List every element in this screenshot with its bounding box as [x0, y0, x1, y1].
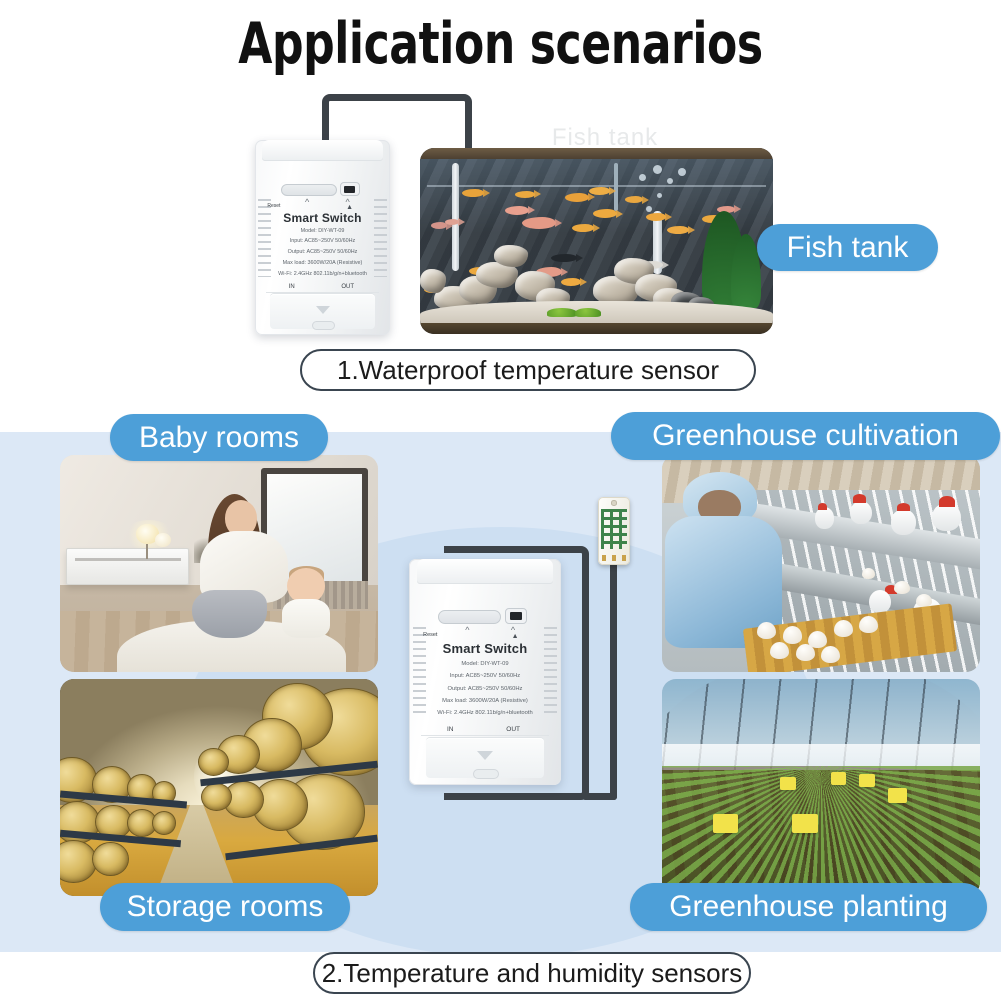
label-greenhouse-planting: Greenhouse planting	[630, 883, 987, 931]
terminal-in-label: IN	[289, 284, 295, 290]
caption-two-text: 2.Temperature and humidity sensors	[322, 960, 743, 986]
caption-waterproof-temperature-sensor: 1.Waterproof temperature sensor	[300, 349, 756, 391]
wifi-icon-bottom: ▲	[512, 633, 519, 640]
humidity-sensor-probe	[598, 497, 630, 565]
device-name-bottom: Smart Switch	[409, 641, 561, 656]
device-tab	[312, 321, 336, 330]
caption-one-text: 1.Waterproof temperature sensor	[337, 357, 719, 383]
wifi-icon: ▲	[346, 204, 353, 211]
device-max-load: Max load: 3600W/20A (Resistive)	[255, 260, 390, 266]
label-baby-rooms: Baby rooms	[110, 414, 328, 461]
storage-room-photo	[60, 679, 378, 896]
device-input: Input: AC85~250V 50/60Hz	[255, 238, 390, 244]
power-button-bottom[interactable]	[505, 608, 527, 624]
terminal-in-label-bottom: IN	[447, 726, 454, 733]
page-title: Application scenarios	[70, 8, 931, 80]
device-wifi-spec-bottom: Wi-Fi: 2.4GHz 802.11b/g/n+bluetooth	[409, 710, 561, 716]
device-name: Smart Switch	[255, 211, 390, 225]
label-greenhouse-cultivation-text: Greenhouse cultivation	[652, 421, 959, 451]
baby-room-photo	[60, 455, 378, 672]
power-button[interactable]	[340, 182, 360, 196]
device-wifi-spec: Wi-Fi: 2.4GHz 802.11b/g/n+bluetooth	[255, 271, 390, 277]
device-output-bottom: Output: AC85~250V 50/60Hz	[409, 686, 561, 692]
label-storage-rooms-text: Storage rooms	[127, 892, 324, 922]
device-model: Model: DIY-WT-09	[255, 228, 390, 234]
caption-temperature-humidity-sensors: 2.Temperature and humidity sensors	[313, 952, 751, 994]
device-output: Output: AC85~250V 50/60Hz	[255, 249, 390, 255]
greenhouse-planting-photo	[662, 679, 980, 896]
label-fish-tank: Fish tank	[757, 224, 938, 271]
humidity-sensor-cable-riser	[610, 560, 617, 800]
device-max-load-bottom: Max load: 3600W/20A (Resistive)	[409, 698, 561, 704]
device-reset-label: Reset	[206, 203, 341, 209]
direction-triangle	[316, 306, 330, 314]
device-tab-bottom	[473, 769, 499, 779]
terminal-out-label-bottom: OUT	[506, 726, 520, 733]
humidity-sensor-cable-foot	[582, 793, 617, 800]
terminal-out-label: OUT	[341, 284, 354, 290]
label-greenhouse-cultivation: Greenhouse cultivation	[611, 412, 1000, 460]
label-fish-tank-text: Fish tank	[787, 233, 909, 263]
label-storage-rooms: Storage rooms	[100, 883, 350, 931]
label-baby-rooms-text: Baby rooms	[139, 423, 299, 453]
infographic-page: Application scenarios Fish tank	[0, 0, 1001, 1001]
smart-switch-device-bottom: ^ ^ Reset ▲ Smart Switch Model: DIY-WT-0…	[409, 559, 561, 785]
device-reset-label-bottom: Reset	[354, 632, 506, 638]
direction-triangle-bottom	[477, 751, 493, 760]
device-model-bottom: Model: DIY-WT-09	[409, 661, 561, 667]
device-input-bottom: Input: AC85~250V 50/60Hz	[409, 673, 561, 679]
fish-tank-photo	[420, 148, 773, 334]
smart-switch-device-top: ^ ^ Reset ▲ Smart Switch Model: DIY-WT-0…	[255, 140, 390, 335]
label-greenhouse-planting-text: Greenhouse planting	[669, 892, 948, 922]
greenhouse-cultivation-photo	[662, 455, 980, 672]
